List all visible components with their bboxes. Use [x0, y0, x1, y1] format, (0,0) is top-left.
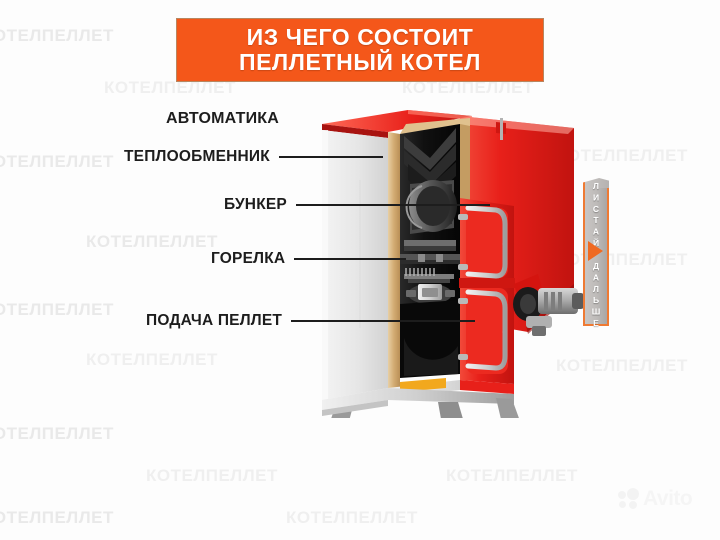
watermark-text: КОТЕЛПЕЛЛЕТ	[86, 232, 218, 252]
watermark-text: КОТЕЛПЕЛЛЕТ	[0, 424, 114, 444]
callout-label: ПОДАЧА ПЕЛЛЕТ	[146, 312, 282, 330]
leader-line	[291, 320, 475, 322]
headline-banner: ИЗ ЧЕГО СОСТОИТ ПЕЛЛЕТНЫЙ КОТЕЛ	[176, 18, 544, 82]
swipe-top-label: ЛИСТАЙ	[583, 192, 609, 238]
watermark-text: КОТЕЛПЕЛЛЕТ	[446, 466, 578, 486]
watermark-text: КОТЕЛПЕЛЛЕТ	[0, 26, 114, 46]
leader-line	[296, 204, 490, 206]
callout-label: БУНКЕР	[224, 196, 287, 214]
avito-watermark: Avito	[618, 484, 710, 514]
watermark-text: КОТЕЛПЕЛЛЕТ	[286, 508, 418, 528]
leader-line	[294, 258, 406, 260]
leader-line	[279, 156, 383, 158]
headline-line-1: ИЗ ЧЕГО СОСТОИТ	[239, 25, 481, 50]
play-triangle-icon	[588, 241, 603, 261]
callout-podacha-pellet: ПОДАЧА ПЕЛЛЕТ	[146, 312, 475, 330]
watermark-text: КОТЕЛПЕЛЛЕТ	[0, 300, 114, 320]
watermark-text: КОТЕЛПЕЛЛЕТ	[0, 152, 114, 172]
watermark-text: КОТЕЛПЕЛЛЕТ	[0, 508, 114, 528]
watermark-text: КОТЕЛПЕЛЛЕТ	[146, 466, 278, 486]
chamber-divider	[400, 254, 460, 264]
avito-logo-icon	[618, 488, 640, 510]
callout-teploobmennik: ТЕПЛООБМЕННИК	[124, 148, 383, 166]
infographic-canvas: КОТЕЛПЕЛЛЕТ КОТЕЛПЕЛЛЕТ КОТЕЛПЕЛЛЕТ КОТЕ…	[0, 0, 720, 540]
watermark-text: КОТЕЛПЕЛЛЕТ	[86, 350, 218, 370]
swipe-next-hint[interactable]: ЛИСТАЙ ДАЛЬШЕ	[583, 178, 609, 326]
swipe-bottom-label: ДАЛЬШЕ	[583, 266, 609, 324]
callout-label: ТЕПЛООБМЕННИК	[124, 148, 270, 166]
headline-line-2: ПЕЛЛЕТНЫЙ КОТЕЛ	[239, 50, 481, 75]
callout-label: АВТОМАТИКА	[166, 110, 279, 128]
callout-avtomatika: АВТОМАТИКА	[166, 110, 279, 128]
callout-label: ГОРЕЛКА	[211, 250, 285, 268]
callout-bunker: БУНКЕР	[224, 196, 490, 214]
avito-wordmark: Avito	[643, 487, 692, 511]
callout-gorelka: ГОРЕЛКА	[211, 250, 406, 268]
